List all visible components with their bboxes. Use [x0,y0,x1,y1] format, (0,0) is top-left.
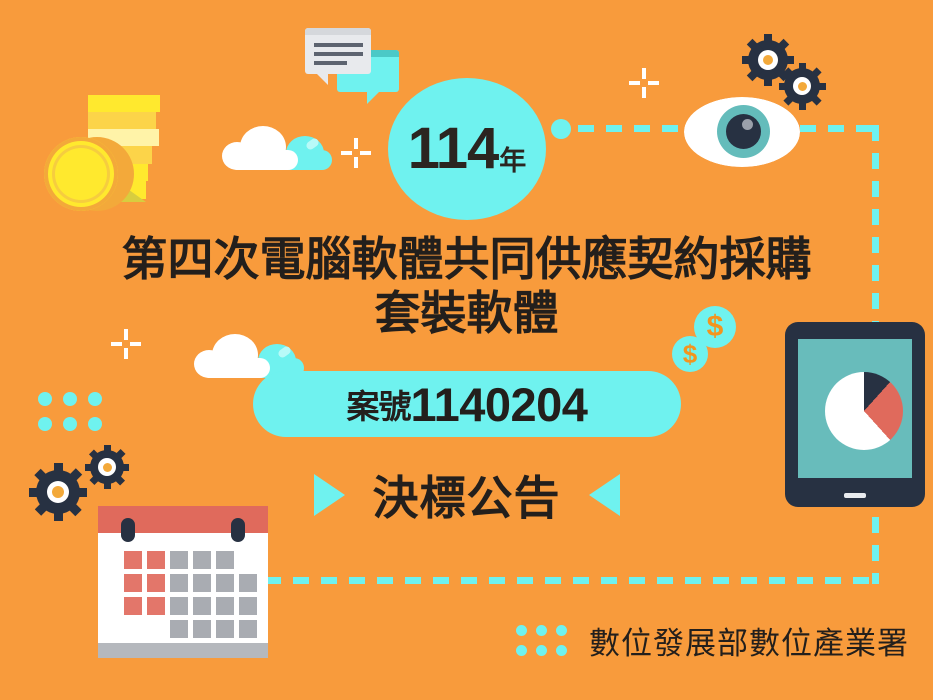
eye-icon [684,97,800,167]
footer: 數位發展部數位產業署 [516,618,909,663]
page-title: 第四次電腦軟體共同供應契約採購 套裝軟體 [0,232,933,341]
case-number-label: 案號 [347,380,411,428]
dashed-path-segment-bottom [265,577,879,584]
announcement-banner: 決標公告 [0,462,933,528]
dashed-path-segment-top-right [800,125,879,132]
dot-grid-icon [516,625,567,656]
dashed-path-segment-top [578,125,686,132]
tablet-screen [798,339,912,478]
cloud-icon [222,122,332,170]
gear-icon [748,40,788,80]
page-title-line2: 套裝軟體 [0,286,933,340]
dashed-path-start-dot [551,119,571,139]
pie-chart [825,372,903,450]
year-suffix: 年 [499,139,526,178]
triangle-right-icon [314,474,345,516]
page-title-line1: 第四次電腦軟體共同供應契約採購 [122,233,812,285]
poster-canvas: $ $ 114 年 第四次電腦軟體共同供應契約採購 套裝軟體 [0,0,933,700]
announcement-text: 決標公告 [373,462,561,528]
case-number-badge: 案號 1140204 [253,371,681,437]
chat-bubbles-icon [305,28,401,110]
dot-grid-icon [38,392,102,431]
year-number: 114 [408,120,499,178]
year-badge: 114 年 [388,78,546,220]
plus-mark-icon [341,138,371,168]
triangle-left-icon [589,474,620,516]
plus-mark-icon [629,68,659,98]
dollar-coin-icon: $ [672,336,708,372]
organization-name: 數位發展部數位產業署 [589,618,909,663]
calendar-day-grid [124,551,257,638]
case-number-value: 1140204 [411,377,588,432]
money-stack-icon [40,92,162,212]
